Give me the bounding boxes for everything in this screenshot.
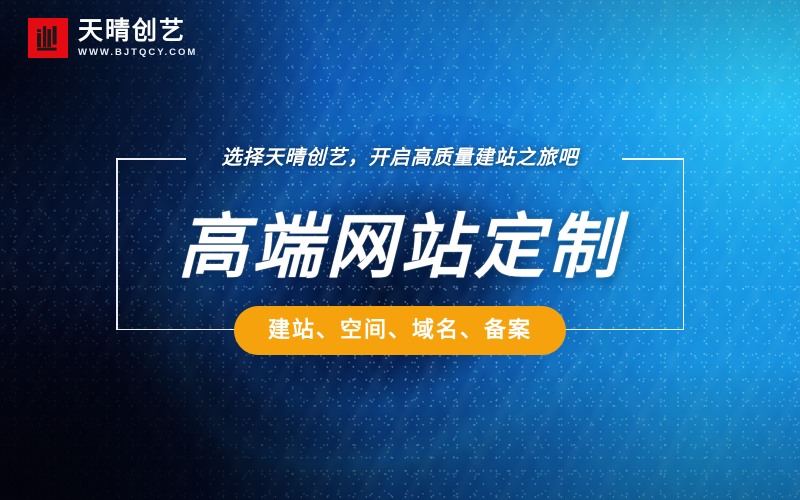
background-silk-sweep xyxy=(0,0,800,500)
hero-cta-container: 建站、空间、域名、备案 xyxy=(0,306,800,355)
background-base-gradient xyxy=(0,0,800,500)
brand-website: WWW.BJTQCY.COM xyxy=(78,47,197,58)
background-sparkles-teal xyxy=(0,0,800,500)
promo-banner: 天晴创艺 WWW.BJTQCY.COM 选择天晴创艺，开启高质量建站之旅吧 高端… xyxy=(0,0,800,500)
hero-frame-right-edge xyxy=(683,158,685,330)
services-cta-button[interactable]: 建站、空间、域名、备案 xyxy=(234,306,566,355)
background-vortex-ring xyxy=(131,92,654,500)
background-sparkles xyxy=(0,0,800,500)
brand-logo-text: 天晴创艺 WWW.BJTQCY.COM xyxy=(78,18,197,59)
hero-frame-top-left-segment xyxy=(116,158,186,160)
background-streaks-primary xyxy=(0,0,800,500)
hero-headline: 高端网站定制 xyxy=(0,205,800,289)
background-streaks-secondary xyxy=(0,0,800,500)
tqcy-square-logo-icon xyxy=(28,18,68,58)
brand-logo[interactable]: 天晴创艺 WWW.BJTQCY.COM xyxy=(28,18,197,59)
brand-name: 天晴创艺 xyxy=(78,18,197,44)
hero-frame-top-right-segment xyxy=(622,158,684,160)
hero-frame-left-edge xyxy=(116,158,118,330)
background-vignette xyxy=(0,0,800,500)
hero-content: 选择天晴创艺，开启高质量建站之旅吧 高端网站定制 建站、空间、域名、备案 xyxy=(0,0,800,500)
hero-frame xyxy=(116,158,684,330)
background-vortex-swirl xyxy=(111,65,660,500)
hero-subtitle: 选择天晴创艺，开启高质量建站之旅吧 xyxy=(0,145,800,171)
